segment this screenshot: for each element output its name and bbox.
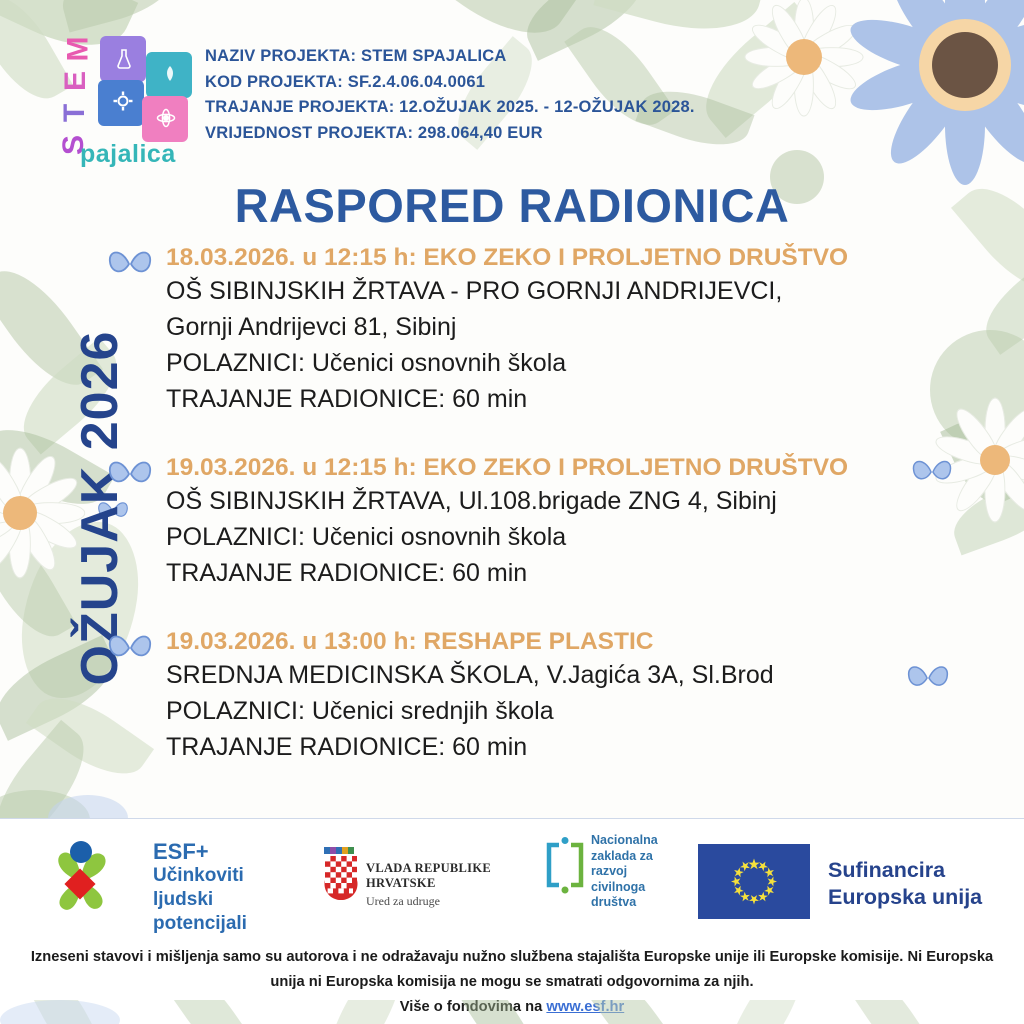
logo-letter-m: M <box>64 37 94 62</box>
eu-line-1: Sufinancira <box>828 857 982 884</box>
poster-canvas: S T E M pajalica <box>0 0 1024 1024</box>
workshop-duration-line: TRAJANJE RADIONICE: 60 min <box>166 381 904 417</box>
esf-logo: ESF+ Učinkoviti ljudski potencijali <box>38 833 308 929</box>
workshop-address-line: Gornji Andrijevci 81, Sibinj <box>166 309 904 345</box>
esf-logo-text: ESF+ Učinkoviti ljudski potencijali <box>153 840 308 936</box>
vlada-line-1: VLADA REPUBLIKE HRVATSKE <box>366 861 537 891</box>
workshop-entry: 18.03.2026. u 12:15 h: EKO ZEKO I PROLJE… <box>104 243 904 417</box>
esf-line-3: potencijali <box>153 912 308 936</box>
funder-logos-row: ESF+ Učinkoviti ljudski potencijali <box>0 827 1024 935</box>
eu-cofunded-logo: Sufinancira Europska unija <box>698 841 1008 921</box>
workshop-participants-line: POLAZNICI: Učenici osnovnih škola <box>166 345 904 381</box>
flask-icon <box>114 48 134 70</box>
esf-line-2: Učinkoviti ljudski <box>153 864 308 912</box>
workshop-duration-line: TRAJANJE RADIONICE: 60 min <box>166 555 904 591</box>
workshop-duration-line: TRAJANJE RADIONICE: 60 min <box>166 729 904 765</box>
logo-wordmark: pajalica <box>80 140 176 169</box>
bottom-decorative-strip <box>0 1000 1024 1024</box>
logo-letter-e: E <box>61 71 91 91</box>
workshop-entry: 19.03.2026. u 12:15 h: EKO ZEKO I PROLJE… <box>104 453 904 591</box>
gear-icon <box>112 90 134 112</box>
workshop-details: OŠ SIBINJSKIH ŽRTAVA, Ul.108.brigade ZNG… <box>166 483 904 591</box>
footer-panel: ESF+ Učinkoviti ljudski potencijali <box>0 818 1024 1024</box>
workshop-participants-line: POLAZNICI: Učenici srednjih škola <box>166 693 904 729</box>
butterfly-icon <box>106 246 154 282</box>
stem-spajalica-logo: S T E M pajalica <box>34 28 194 174</box>
butterfly-icon-margin-right-2 <box>905 660 951 696</box>
eu-logo-text: Sufinancira Europska unija <box>828 857 982 911</box>
disclaimer-line-2: unija ni Europska komisija ne mogu se sm… <box>12 970 1012 995</box>
rocket-icon <box>160 64 180 84</box>
zaklada-logo-text: Nacionalna zaklada za razvoj civilnoga d… <box>591 833 658 911</box>
project-info-block: NAZIV PROJEKTA: STEM SPAJALICA KOD PROJE… <box>205 44 765 146</box>
workshop-heading: 19.03.2026. u 12:15 h: EKO ZEKO I PROLJE… <box>166 453 904 483</box>
workshop-participants-line: POLAZNICI: Učenici osnovnih škola <box>166 519 904 555</box>
zaklada-line-5: društva <box>591 895 658 911</box>
workshop-heading: 19.03.2026. u 13:00 h: RESHAPE PLASTIC <box>166 627 904 657</box>
logo-letter-t: T <box>60 104 90 122</box>
project-duration-line: TRAJANJE PROJEKTA: 12.OŽUJAK 2025. - 12-… <box>205 95 765 121</box>
esf-line-1: ESF+ <box>153 840 308 864</box>
butterfly-icon <box>106 456 154 492</box>
vlada-line-2: Ured za udruge <box>366 894 537 909</box>
zaklada-line-3: razvoj <box>591 864 658 880</box>
disclaimer-line-1: Izneseni stavovi i mišljenja samo su aut… <box>12 945 1012 970</box>
workshop-location-line: OŠ SIBINJSKIH ŽRTAVA, Ul.108.brigade ZNG… <box>166 483 904 519</box>
workshop-schedule-list: 18.03.2026. u 12:15 h: EKO ZEKO I PROLJE… <box>104 243 904 792</box>
workshop-details: OŠ SIBINJSKIH ŽRTAVA - PRO GORNJI ANDRIJ… <box>166 273 904 417</box>
brackets-icon <box>543 837 587 899</box>
vlada-rh-logo: VLADA REPUBLIKE HRVATSKE Ured za udruge <box>322 845 537 917</box>
eu-line-2: Europska unija <box>828 884 982 911</box>
zaklada-line-1: Nacionalna <box>591 833 658 849</box>
eu-flag-icon <box>698 844 810 919</box>
workshop-location-line: OŠ SIBINJSKIH ŽRTAVA - PRO GORNJI ANDRIJ… <box>166 273 904 309</box>
zaklada-line-4: civilnoga <box>591 880 658 896</box>
workshop-heading: 18.03.2026. u 12:15 h: EKO ZEKO I PROLJE… <box>166 243 904 273</box>
project-value-line: VRIJEDNOST PROJEKTA: 298.064,40 EUR <box>205 121 765 147</box>
croatian-coat-of-arms-icon <box>322 847 360 901</box>
daisy-flower-blue <box>840 0 1024 190</box>
workshop-details: SREDNJA MEDICINSKA ŠKOLA, V.Jagića 3A, S… <box>166 657 904 765</box>
esf-pinwheel-icon <box>38 837 124 925</box>
vlada-logo-text: VLADA REPUBLIKE HRVATSKE Ured za udruge <box>366 861 537 909</box>
workshop-location-line: SREDNJA MEDICINSKA ŠKOLA, V.Jagića 3A, S… <box>166 657 904 693</box>
nacionalna-zaklada-logo: Nacionalna zaklada za razvoj civilnoga d… <box>543 831 683 929</box>
page-title: RASPORED RADIONICA <box>0 178 1024 233</box>
daisy-flower-white-right <box>930 395 1024 525</box>
butterfly-icon <box>106 630 154 666</box>
workshop-entry: 19.03.2026. u 13:00 h: RESHAPE PLASTIC S… <box>104 627 904 765</box>
atom-icon <box>156 108 176 128</box>
zaklada-line-2: zaklada za <box>591 849 658 865</box>
project-code-line: KOD PROJEKTA: SF.2.4.06.04.0061 <box>205 70 765 96</box>
project-name-line: NAZIV PROJEKTA: STEM SPAJALICA <box>205 44 765 70</box>
